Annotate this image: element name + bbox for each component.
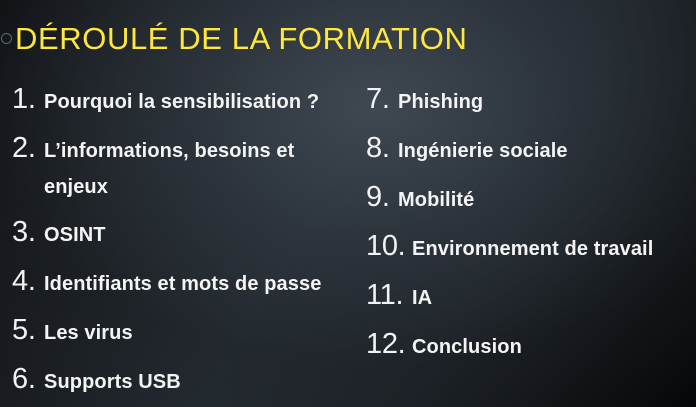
agenda-column-right: 7. Phishing 8. Ingénierie sociale 9. Mob… xyxy=(366,82,692,376)
list-item-number: 4. xyxy=(12,264,44,298)
list-item-number: 10. xyxy=(366,229,412,263)
list-item-number: 9. xyxy=(366,180,398,214)
slide-title-row: DÉROULÉ DE LA FORMATION xyxy=(0,16,467,60)
list-item-number: 3. xyxy=(12,215,44,249)
list-item-label: IA xyxy=(412,281,432,315)
list-item-number: 1. xyxy=(12,82,44,116)
list-item-label: Mobilité xyxy=(398,183,474,217)
list-item-label: L’informations, besoins et enjeux xyxy=(44,133,344,205)
page-title: DÉROULÉ DE LA FORMATION xyxy=(15,23,467,54)
list-item[interactable]: 3. OSINT xyxy=(12,215,362,252)
list-item-label: Phishing xyxy=(398,85,483,119)
list-item[interactable]: 2. L’informations, besoins et enjeux xyxy=(12,131,362,205)
agenda-list: 1. Pourquoi la sensibilisation ? 2. L’in… xyxy=(0,82,696,402)
list-item[interactable]: 11. IA xyxy=(366,278,692,315)
circle-outline-icon xyxy=(1,33,12,44)
list-item-number: 6. xyxy=(12,362,44,396)
list-item-number: 7. xyxy=(366,82,398,116)
list-item-number: 2. xyxy=(12,131,44,165)
list-item-number: 8. xyxy=(366,131,398,165)
list-item[interactable]: 7. Phishing xyxy=(366,82,692,119)
list-item[interactable]: 9. Mobilité xyxy=(366,180,692,217)
list-item-number: 12. xyxy=(366,327,412,361)
list-item-label: Les virus xyxy=(44,316,133,350)
list-item[interactable]: 10. Environnement de travail xyxy=(366,229,692,266)
list-item[interactable]: 8. Ingénierie sociale xyxy=(366,131,692,168)
agenda-column-left: 1. Pourquoi la sensibilisation ? 2. L’in… xyxy=(12,82,362,407)
list-item[interactable]: 12. Conclusion xyxy=(366,327,692,364)
list-item-label: Ingénierie sociale xyxy=(398,134,568,168)
list-item-label: OSINT xyxy=(44,218,106,252)
list-item-number: 5. xyxy=(12,313,44,347)
list-item-label: Environnement de travail xyxy=(412,232,653,266)
list-item-label: Identifiants et mots de passe xyxy=(44,267,321,301)
list-item-label: Pourquoi la sensibilisation ? xyxy=(44,85,319,119)
list-item[interactable]: 1. Pourquoi la sensibilisation ? xyxy=(12,82,362,119)
list-item-label: Supports USB xyxy=(44,365,181,399)
slide-canvas: DÉROULÉ DE LA FORMATION 1. Pourquoi la s… xyxy=(0,0,696,407)
list-item-label: Conclusion xyxy=(412,330,522,364)
list-item[interactable]: 6. Supports USB xyxy=(12,362,362,399)
list-item[interactable]: 4. Identifiants et mots de passe xyxy=(12,264,362,301)
list-item-number: 11. xyxy=(366,278,412,312)
list-item[interactable]: 5. Les virus xyxy=(12,313,362,350)
